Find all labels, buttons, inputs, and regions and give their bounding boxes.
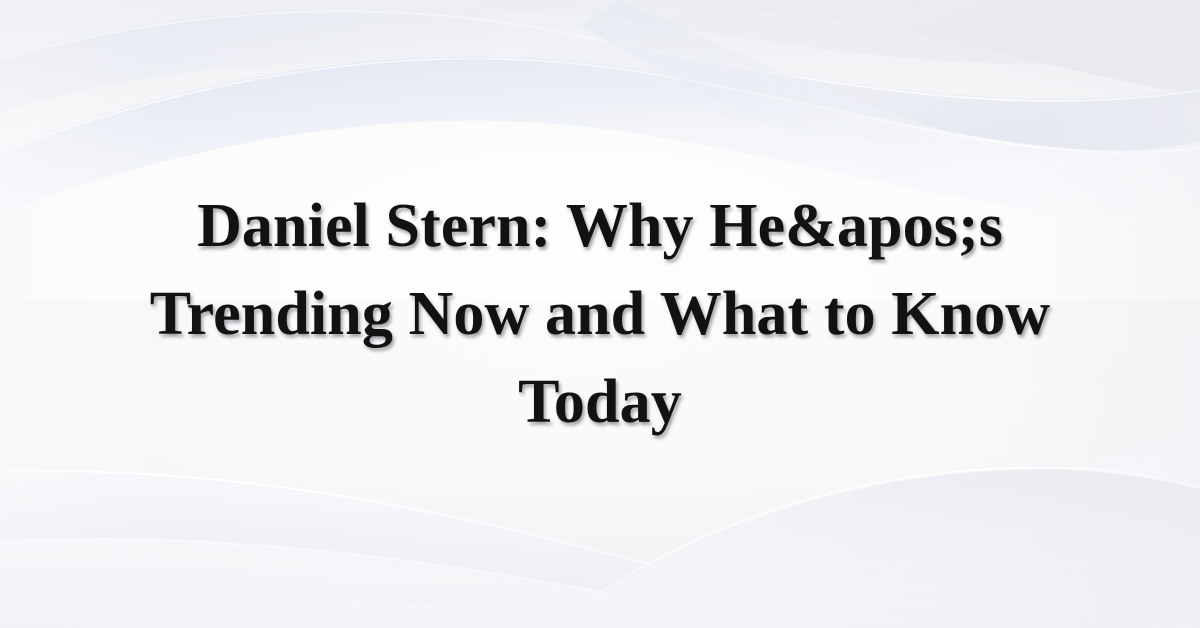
title-container: Daniel Stern: Why He&apos;s Trending Now… [0,0,1200,628]
page-title: Daniel Stern: Why He&apos;s Trending Now… [110,182,1090,446]
og-card: Daniel Stern: Why He&apos;s Trending Now… [0,0,1200,628]
